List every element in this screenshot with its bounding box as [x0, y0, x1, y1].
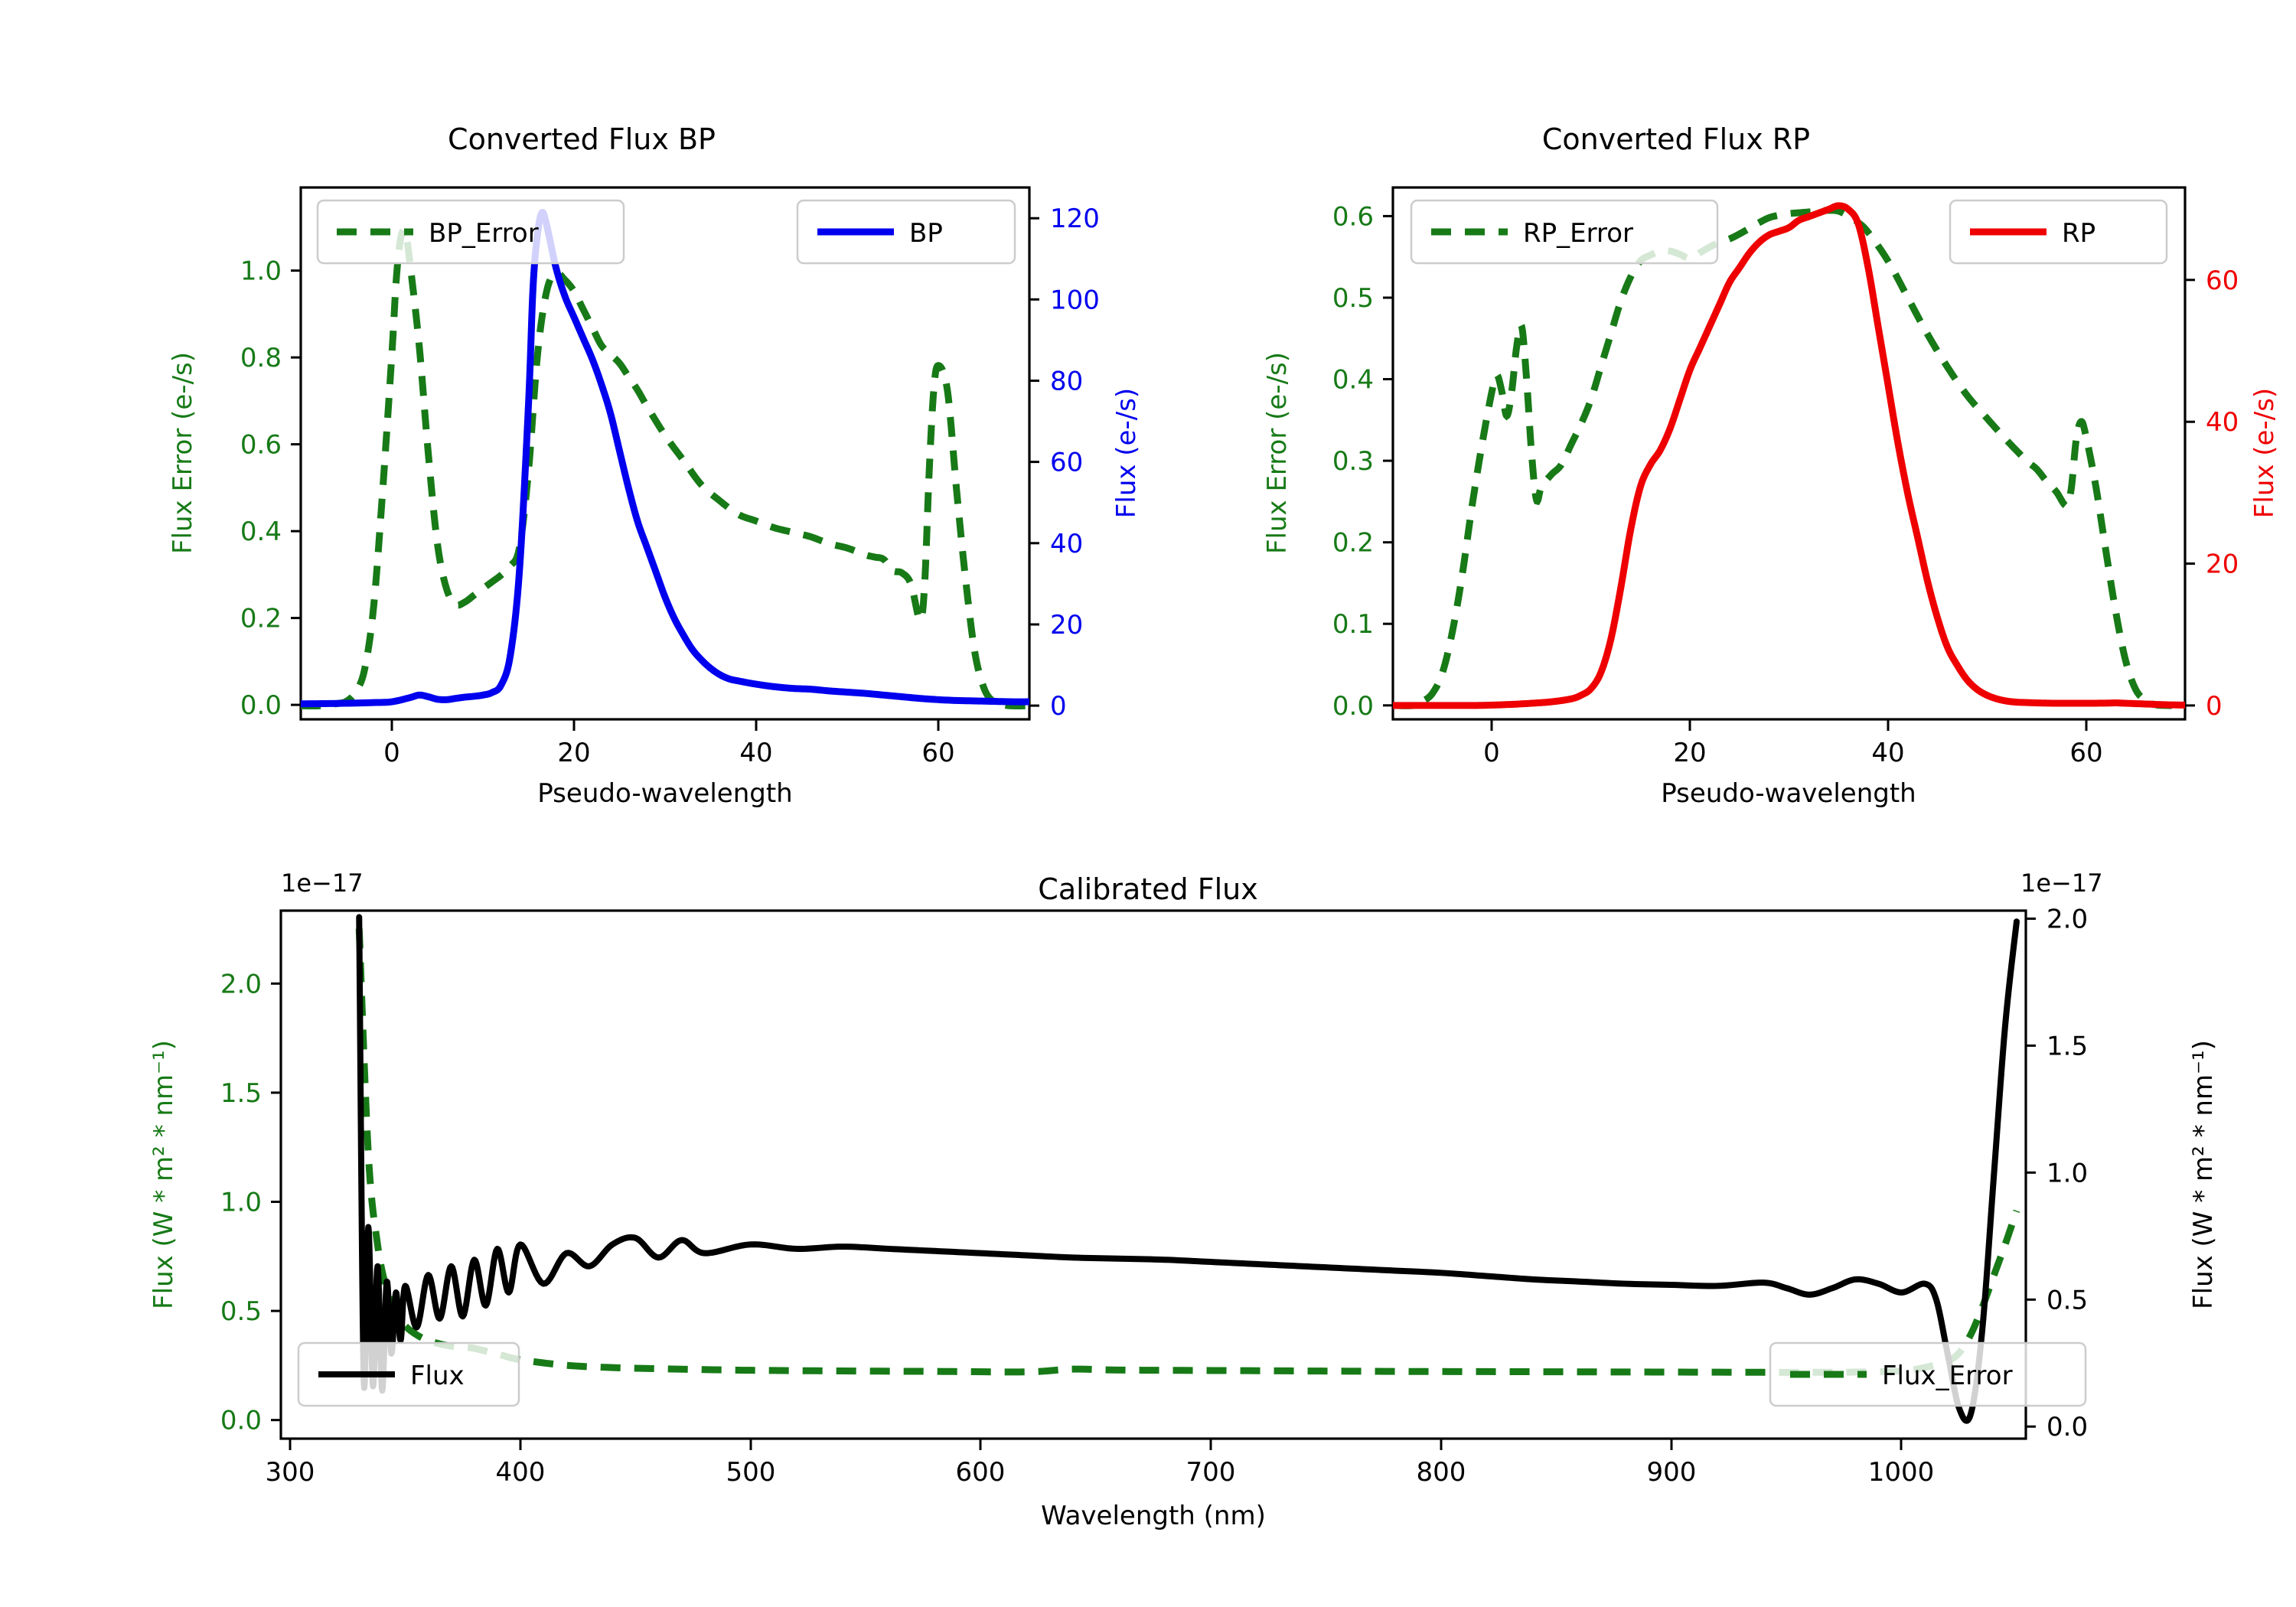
rp-error-curve	[1393, 210, 2185, 706]
calibrated-ytick-right-3: 1.5	[2047, 1031, 2088, 1061]
calibrated-ytick-right-4: 2.0	[2047, 905, 2088, 935]
bp-xtick-3: 60	[921, 738, 954, 768]
calibrated-xtick-4: 700	[1186, 1457, 1236, 1488]
bp-legend-flux: BP	[797, 200, 1015, 263]
calibrated-xtick-0: 300	[266, 1457, 315, 1488]
bp-title: Converted Flux BP	[448, 122, 716, 156]
bp-error-legend-label: BP_Error	[429, 218, 539, 249]
rp-right-yaxis: 0 20 40 60 Flux (e-/s)	[2185, 266, 2280, 722]
calibrated-xtick-3: 600	[956, 1457, 1006, 1488]
calibrated-error-curve	[359, 929, 2017, 1373]
calibrated-offset-left: 1e−17	[281, 869, 364, 898]
calibrated-legend-error: Flux_Error	[1770, 1343, 2086, 1406]
calibrated-legend-flux: Flux	[298, 1343, 519, 1406]
calibrated-ytick-left-1: 0.5	[220, 1296, 262, 1327]
calibrated-xlabel: Wavelength (nm)	[1041, 1501, 1266, 1531]
rp-ytick-left-4: 0.4	[1332, 365, 1374, 396]
calibrated-xtick-1: 400	[496, 1457, 546, 1488]
bp-left-yaxis: 0.0 0.2 0.4 0.6 0.8 1.0 Flux Error (e-/s…	[168, 256, 301, 721]
rp-legend-error: RP_Error	[1411, 200, 1717, 263]
rp-xtick-2: 40	[1871, 738, 1904, 768]
rp-svg: Converted Flux RP 0.0 0.1 0.2 0.3 0.4	[1148, 0, 2296, 803]
bp-ytick-right-5: 100	[1050, 285, 1100, 315]
calibrated-xtick-6: 900	[1647, 1457, 1697, 1488]
rp-ytick-left-2: 0.2	[1332, 528, 1374, 559]
bp-ytick-right-0: 0	[1050, 691, 1067, 722]
bp-flux-legend-label: BP	[909, 218, 943, 249]
rp-flux-curve	[1393, 206, 2185, 706]
calibrated-offset-right: 1e−17	[2020, 869, 2103, 898]
bp-axes-frame	[301, 187, 1029, 719]
rp-ytick-right-2: 40	[2206, 407, 2239, 438]
rp-left-yaxis: 0.0 0.1 0.2 0.3 0.4 0.5 0.6 Flux Error (…	[1262, 201, 1393, 721]
calibrated-xtick-5: 800	[1417, 1457, 1466, 1488]
calibrated-flux-legend-label: Flux	[410, 1361, 465, 1391]
rp-legend-flux: RP	[1950, 200, 2167, 263]
bp-ytick-right-3: 60	[1050, 448, 1083, 478]
bp-xtick-1: 20	[557, 738, 590, 768]
rp-xtick-3: 60	[2069, 738, 2102, 768]
calibrated-ytick-right-1: 0.5	[2047, 1285, 2088, 1315]
bp-ytick-left-1: 0.2	[240, 604, 282, 634]
calibrated-xtick-7: 1000	[1868, 1457, 1935, 1488]
panel-converted-flux-bp: Converted Flux BP 0.0 0.2 0.4 0.6 0.8	[0, 0, 1148, 803]
rp-xtick-0: 0	[1483, 738, 1500, 768]
rp-ytick-left-1: 0.1	[1332, 609, 1374, 640]
rp-xtick-1: 20	[1673, 738, 1706, 768]
rp-axes-frame	[1393, 187, 2185, 719]
rp-xaxis: 0 20 40 60 Pseudo-wavelength	[1483, 719, 2102, 809]
calibrated-ylabel-right: Flux (W * m² * nm⁻¹)	[2188, 1040, 2219, 1309]
calibrated-xaxis: 300 400 500 600 700 800 900 1000 Wavelen…	[266, 1439, 1935, 1531]
rp-title: Converted Flux RP	[1542, 122, 1810, 156]
rp-ylabel-right: Flux (e-/s)	[2249, 388, 2280, 518]
bp-ytick-right-1: 20	[1050, 610, 1083, 641]
bp-ylabel-left: Flux Error (e-/s)	[168, 352, 198, 554]
panel-calibrated-flux: Calibrated Flux 1e−17 1e−17 0.0 0.5 1.0 …	[0, 803, 2296, 1607]
bp-ytick-right-6: 120	[1050, 204, 1100, 234]
rp-ytick-left-5: 0.5	[1332, 283, 1374, 314]
bp-legend-error: BP_Error	[318, 200, 624, 263]
rp-ytick-right-3: 60	[2206, 266, 2239, 296]
rp-ytick-right-1: 20	[2206, 549, 2239, 580]
bp-right-yaxis: 0 20 40 60 80 100 120 Flux (e-/s)	[1029, 204, 1142, 722]
calibrated-ytick-left-4: 2.0	[220, 969, 262, 999]
bp-ytick-right-2: 40	[1050, 529, 1083, 559]
bp-svg: Converted Flux BP 0.0 0.2 0.4 0.6 0.8	[0, 0, 1148, 803]
calibrated-svg: Calibrated Flux 1e−17 1e−17 0.0 0.5 1.0 …	[0, 803, 2296, 1607]
rp-ylabel-left: Flux Error (e-/s)	[1262, 352, 1293, 554]
bp-ytick-left-2: 0.4	[240, 517, 282, 547]
bp-ylabel-right: Flux (e-/s)	[1111, 388, 1142, 518]
calibrated-ytick-right-2: 1.0	[2047, 1158, 2088, 1188]
calibrated-ytick-left-2: 1.0	[220, 1188, 262, 1218]
bp-ytick-right-4: 80	[1050, 367, 1083, 397]
rp-ytick-left-6: 0.6	[1332, 201, 1374, 232]
bp-error-curve	[301, 230, 1029, 706]
rp-error-legend-label: RP_Error	[1523, 218, 1633, 249]
panel-converted-flux-rp: Converted Flux RP 0.0 0.1 0.2 0.3 0.4	[1148, 0, 2296, 803]
bp-ytick-left-0: 0.0	[240, 690, 282, 721]
bp-xaxis: 0 20 40 60 Pseudo-wavelength	[383, 719, 954, 809]
calibrated-ytick-right-0: 0.0	[2047, 1412, 2088, 1442]
calibrated-ytick-left-3: 1.5	[220, 1078, 262, 1109]
bp-ytick-left-5: 1.0	[240, 256, 282, 287]
rp-ytick-left-0: 0.0	[1332, 691, 1374, 722]
calibrated-flux-curve	[359, 918, 2017, 1421]
calibrated-error-legend-label: Flux_Error	[1882, 1361, 2013, 1391]
matplotlib-figure: Converted Flux BP 0.0 0.2 0.4 0.6 0.8	[0, 0, 2296, 1607]
calibrated-ytick-left-0: 0.0	[220, 1406, 262, 1436]
rp-ytick-right-0: 0	[2206, 691, 2223, 722]
calibrated-title: Calibrated Flux	[1038, 872, 1257, 906]
bp-ytick-left-4: 0.8	[240, 343, 282, 373]
rp-flux-legend-label: RP	[2062, 218, 2095, 249]
calibrated-ylabel-left: Flux (W * m² * nm⁻¹)	[148, 1040, 179, 1309]
rp-ytick-left-3: 0.3	[1332, 446, 1374, 477]
bp-xtick-2: 40	[739, 738, 772, 768]
bp-ytick-left-3: 0.6	[240, 430, 282, 461]
bp-xtick-0: 0	[383, 738, 400, 768]
calibrated-xtick-2: 500	[726, 1457, 776, 1488]
calibrated-left-yaxis: 0.0 0.5 1.0 1.5 2.0 Flux (W * m² * nm⁻¹)	[148, 969, 281, 1436]
